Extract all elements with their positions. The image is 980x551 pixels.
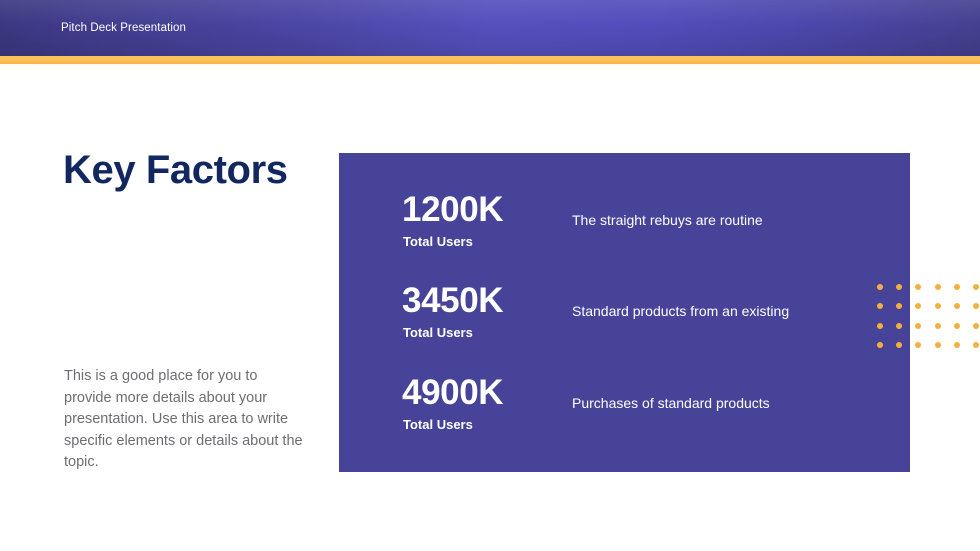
decorative-dot xyxy=(877,303,883,309)
stat-row: 1200K Total Users The straight rebuys ar… xyxy=(339,190,910,268)
header-accent-bar xyxy=(0,56,980,64)
decorative-dot xyxy=(935,323,941,329)
decorative-dot xyxy=(896,342,902,348)
decorative-dot xyxy=(935,342,941,348)
header-accent-glow xyxy=(0,64,980,76)
body-paragraph: This is a good place for you to provide … xyxy=(64,366,304,474)
decorative-dot xyxy=(896,284,902,290)
decorative-dot xyxy=(896,303,902,309)
decorative-dot xyxy=(954,323,960,329)
stat-description: Purchases of standard products xyxy=(572,395,770,411)
decorative-dot xyxy=(915,342,921,348)
decorative-dot xyxy=(954,303,960,309)
decorative-dot xyxy=(877,323,883,329)
decorative-dot xyxy=(973,303,979,309)
dot-grid-decoration xyxy=(877,284,973,348)
stat-label: Total Users xyxy=(403,234,473,249)
decorative-dot xyxy=(973,342,979,348)
stat-description: Standard products from an existing xyxy=(572,303,789,319)
stat-value: 1200K xyxy=(402,190,503,230)
decorative-dot xyxy=(896,323,902,329)
decorative-dot xyxy=(915,303,921,309)
stat-label: Total Users xyxy=(403,325,473,340)
decorative-dot xyxy=(915,284,921,290)
page-title: Key Factors xyxy=(63,148,288,193)
decorative-dot xyxy=(954,284,960,290)
decorative-dot xyxy=(915,323,921,329)
stat-value: 4900K xyxy=(402,373,503,413)
decorative-dot xyxy=(877,342,883,348)
slide-header-bar: Pitch Deck Presentation xyxy=(0,0,980,56)
stat-value: 3450K xyxy=(402,281,503,321)
decorative-dot xyxy=(935,284,941,290)
slide-canvas: Pitch Deck Presentation Key Factors This… xyxy=(0,0,980,551)
decorative-dot xyxy=(973,284,979,290)
decorative-dot xyxy=(935,303,941,309)
stat-row: 4900K Total Users Purchases of standard … xyxy=(339,373,910,451)
decorative-dot xyxy=(973,323,979,329)
decorative-dot xyxy=(877,284,883,290)
decorative-dot xyxy=(954,342,960,348)
stats-panel: 1200K Total Users The straight rebuys ar… xyxy=(339,153,910,472)
presentation-title: Pitch Deck Presentation xyxy=(61,22,186,34)
stat-row: 3450K Total Users Standard products from… xyxy=(339,281,910,359)
stat-label: Total Users xyxy=(403,417,473,432)
stat-description: The straight rebuys are routine xyxy=(572,212,763,228)
